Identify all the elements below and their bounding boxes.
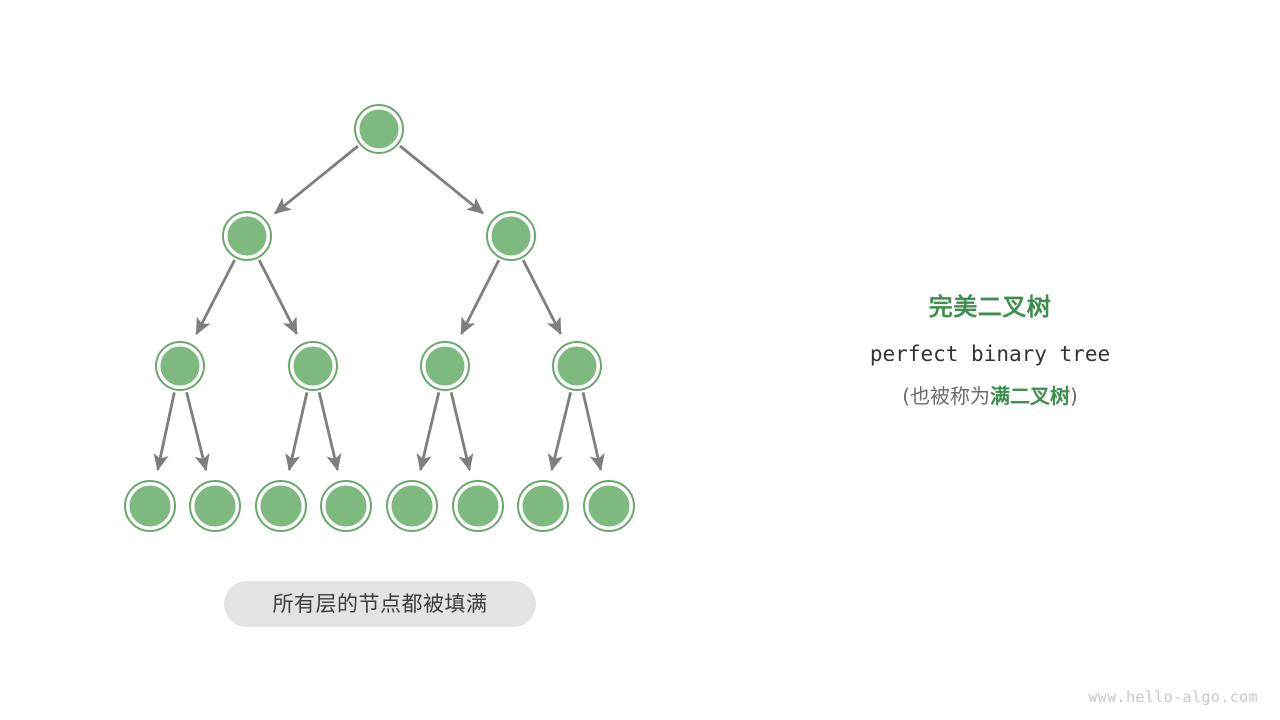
tree-edge — [583, 392, 601, 470]
tree-node-fill — [557, 346, 598, 387]
tree-edge — [552, 392, 571, 470]
tree-node — [387, 481, 437, 531]
tree-edge — [196, 260, 234, 334]
legend-alias-suffix: ) — [1070, 384, 1078, 408]
tree-node — [125, 481, 175, 531]
tree-node — [518, 481, 568, 531]
tree-edge — [420, 392, 438, 470]
tree-node — [421, 342, 469, 390]
caption-badge-label: 所有层的节点都被填满 — [273, 594, 488, 615]
tree-node — [156, 342, 204, 390]
tree-node-fill — [129, 485, 172, 528]
watermark: www.hello-algo.com — [1088, 688, 1258, 706]
tree-node-fill — [359, 109, 400, 150]
edge-layer — [158, 146, 601, 470]
tree-node — [553, 342, 601, 390]
tree-edge — [461, 260, 498, 334]
legend-panel: 完美二叉树 perfect binary tree (也被称为满二叉树) — [790, 292, 1190, 409]
perfect-binary-tree-diagram: 所有层的节点都被填满 完美二叉树 perfect binary tree (也被… — [0, 0, 1280, 720]
tree-node-fill — [522, 485, 565, 528]
tree-node — [584, 481, 634, 531]
tree-node — [190, 481, 240, 531]
tree-node-fill — [491, 216, 532, 257]
tree-node-fill — [588, 485, 631, 528]
legend-subtitle: perfect binary tree — [790, 341, 1190, 367]
tree-node-fill — [293, 346, 334, 387]
tree-edge — [523, 260, 560, 334]
legend-alias: (也被称为满二叉树) — [790, 384, 1190, 409]
tree-edge — [451, 392, 469, 470]
tree-node-fill — [325, 485, 368, 528]
tree-node — [256, 481, 306, 531]
tree-edge — [259, 260, 296, 334]
legend-title: 完美二叉树 — [790, 292, 1190, 323]
tree-edge — [289, 392, 307, 470]
tree-node — [355, 105, 403, 153]
caption-badge: 所有层的节点都被填满 — [224, 581, 536, 627]
legend-alias-strong: 满二叉树 — [990, 384, 1070, 408]
tree-node — [289, 342, 337, 390]
node-layer — [125, 105, 634, 531]
tree-edge — [319, 392, 337, 470]
tree-edge — [275, 146, 358, 213]
tree-edge — [187, 392, 206, 470]
legend-alias-prefix: (也被称为 — [902, 384, 990, 408]
tree-node-fill — [160, 346, 201, 387]
tree-edge — [158, 392, 175, 469]
tree-node-fill — [457, 485, 500, 528]
tree-node-fill — [425, 346, 466, 387]
tree-edge — [400, 146, 483, 213]
tree-node — [487, 212, 535, 260]
tree-node-fill — [391, 485, 434, 528]
tree-node — [453, 481, 503, 531]
tree-node — [321, 481, 371, 531]
tree-node-fill — [260, 485, 303, 528]
tree-node-fill — [194, 485, 237, 528]
tree-node-fill — [227, 216, 268, 257]
tree-node — [223, 212, 271, 260]
